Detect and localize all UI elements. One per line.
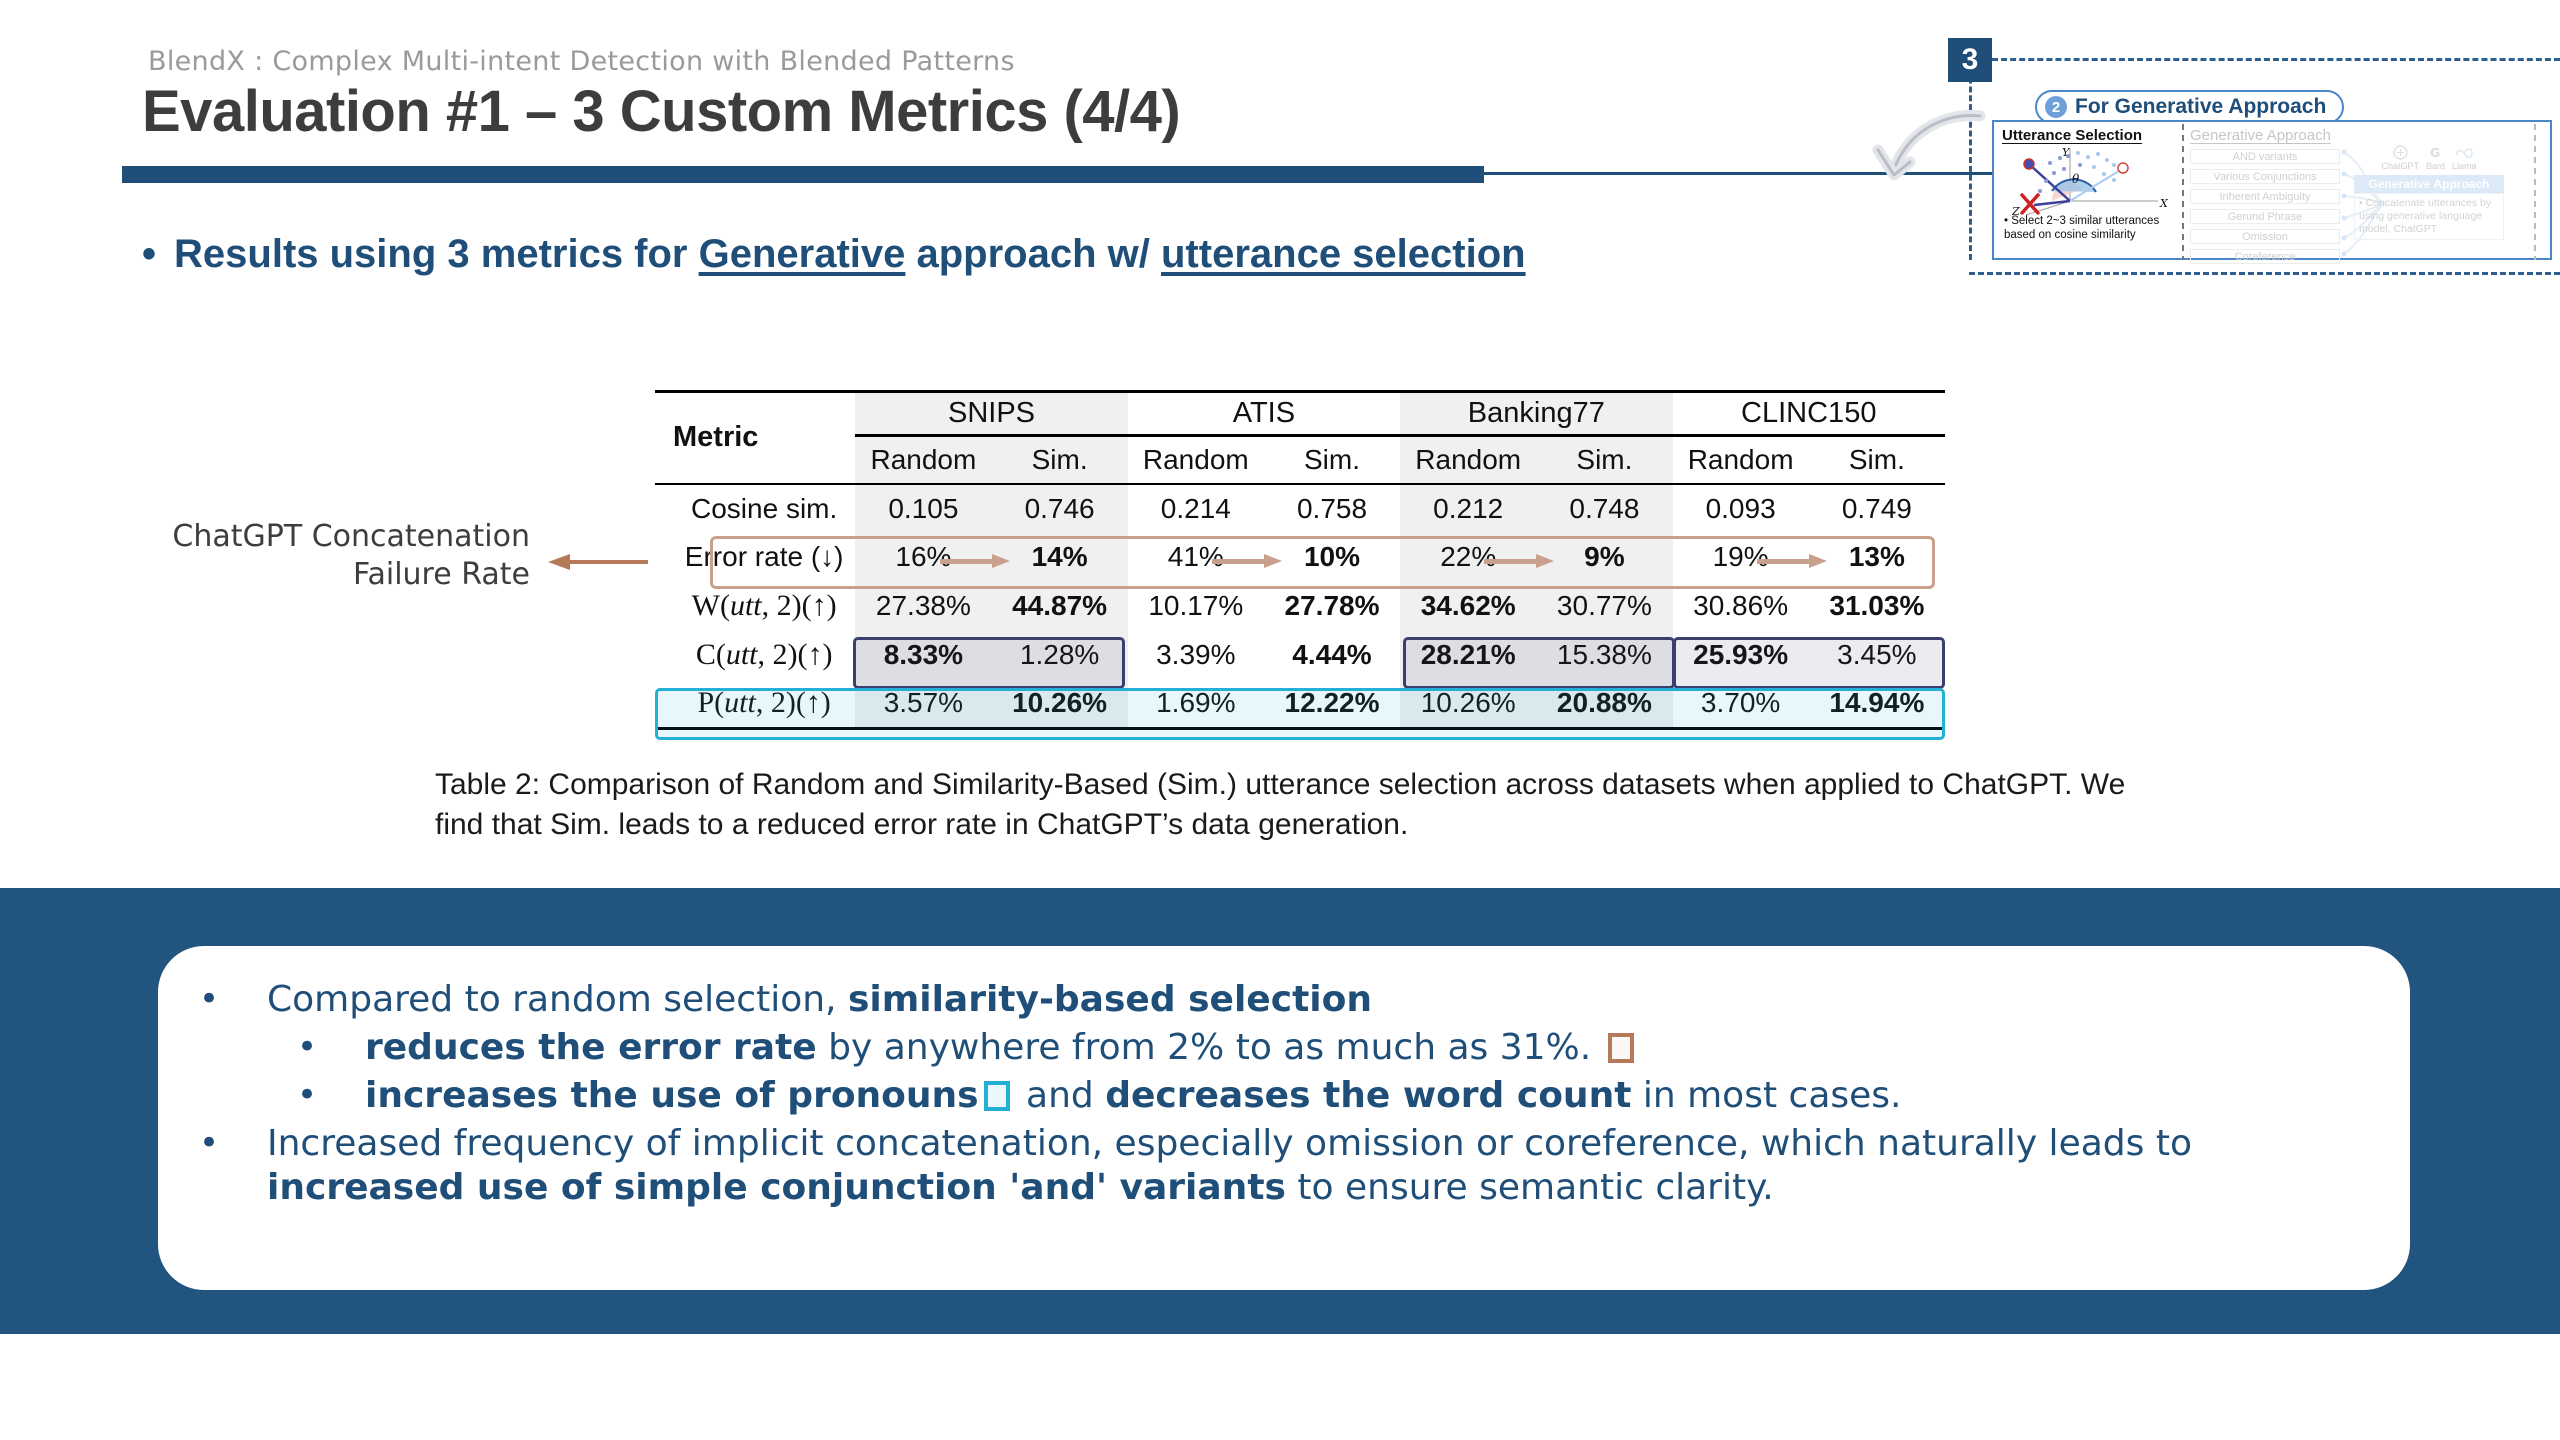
table-cell-value: 3.57%	[855, 680, 991, 729]
main-bullet-part1: Results using 3 metrics for	[174, 232, 699, 276]
table-cell-value: 1.69%	[1128, 680, 1264, 729]
thumbnail-left-title: Utterance Selection	[2002, 127, 2177, 144]
table-row: W(utt, 2)(↑)27.38%44.87%10.17%27.78%34.6…	[655, 582, 1945, 631]
table-body: Cosine sim.0.1050.7460.2140.7580.2120.74…	[655, 484, 1945, 729]
table-cell-value: 0.105	[855, 484, 991, 533]
table-cell-value: 0.212	[1400, 484, 1536, 533]
table-cell-value: 9%	[1536, 533, 1672, 582]
thumbnail-model-logos: ChatGPT G Bard Llama	[2354, 144, 2504, 171]
table-cell-value: 15.38%	[1536, 631, 1672, 680]
arrow-right-icon	[1757, 555, 1831, 567]
annotation-line-2: Failure Rate	[150, 556, 530, 594]
thumbnail-diagram: Utterance Selection Y X Z θ	[1992, 120, 2552, 260]
table-group-header-row: Metric SNIPS ATIS Banking77 CLINC150	[655, 392, 1945, 436]
table-cell-metric: W(utt, 2)(↑)	[655, 582, 855, 631]
summary-card-content: •Compared to random selection, similarit…	[185, 978, 2395, 1214]
thumbnail-chip-1: Various Conjunctions	[2190, 169, 2340, 184]
table-subheader-random-3: Random	[1673, 436, 1809, 484]
color-swatch-tan	[1608, 1033, 1634, 1063]
thumbnail-right-title: Generative Approach	[2354, 175, 2504, 193]
table-cell-metric: C(utt, 2)(↑)	[655, 631, 855, 680]
table-subheader-sim-1: Sim.	[1264, 436, 1400, 484]
thumbnail-dashed-bottom	[1969, 272, 2560, 275]
table-cell-metric: Error rate (↓)	[655, 533, 855, 582]
bullet-glyph: •	[142, 232, 156, 276]
table-cell-value: 10.26%	[1400, 680, 1536, 729]
thumbnail-dashed-top	[1992, 58, 2560, 61]
thumbnail-left-note: • Select 2~3 similar utterances based on…	[2004, 215, 2177, 242]
table-cell-metric: Cosine sim.	[655, 484, 855, 533]
thumbnail-chip-4: Omission	[2190, 229, 2340, 244]
table-header-dataset-3: CLINC150	[1673, 392, 1945, 436]
title-underline-bar	[122, 166, 1484, 183]
results-table: Metric SNIPS ATIS Banking77 CLINC150 Ran…	[655, 390, 1945, 730]
summary-bullet-item: •increases the use of pronouns and decre…	[185, 1074, 2395, 1118]
hyu-logo: 한양대학교 HANYANG UNIVERSITY	[100, 1338, 390, 1400]
thumbnail-right-body: • Concatenate utterances by using genera…	[2354, 193, 2504, 240]
bullet-glyph: •	[297, 1027, 317, 1068]
table-cell-value: 0.093	[1673, 484, 1809, 533]
chatgpt-logo-label: ChatGPT	[2381, 161, 2419, 171]
summary-text-segment: increases the use of pronouns	[365, 1075, 979, 1116]
summary-text-segment: Compared to random selection,	[267, 979, 848, 1020]
table-caption: Table 2: Comparison of Random and Simila…	[435, 765, 2155, 845]
thumbnail-chip-5: Coreference	[2190, 249, 2340, 264]
main-bullet-part2: approach w/	[905, 232, 1161, 276]
table-cell-value: 10.26%	[992, 680, 1128, 729]
table-cell-value: 31.03%	[1809, 582, 1945, 631]
cosine-similarity-diagram-icon: Y X Z θ	[2008, 143, 2173, 217]
summary-text-segment: similarity-based selection	[848, 979, 1372, 1020]
svg-text:한양대학교: 한양대학교	[305, 1353, 384, 1373]
thumbnail-chip-3: Gerund Phrase	[2190, 209, 2340, 224]
thumbnail-pill-label: 2 For Generative Approach	[2035, 90, 2344, 124]
section-badge: 3	[1948, 38, 1992, 82]
annotation-line-1: ChatGPT Concatenation	[150, 518, 530, 556]
summary-bullet-item: •Compared to random selection, similarit…	[185, 978, 2395, 1022]
table-cell-value: 3.45%	[1809, 631, 1945, 680]
table-cell-value: 30.77%	[1536, 582, 1672, 631]
bard-logo-label: Bard	[2426, 161, 2445, 171]
pill-number-badge: 2	[2045, 96, 2067, 118]
bullet-glyph: •	[199, 1123, 219, 1164]
summary-text-segment: in most cases.	[1631, 1075, 1901, 1116]
table-cell-value: 8.33%	[855, 631, 991, 680]
table-cell-value: 0.758	[1264, 484, 1400, 533]
bullet-glyph: •	[199, 979, 219, 1020]
table-header-metric: Metric	[655, 392, 855, 484]
bullet-glyph: •	[297, 1075, 317, 1116]
footer-line-1: Natural Language Processing Lab.,	[1100, 1341, 1480, 1406]
svg-text:G: G	[2430, 145, 2440, 160]
summary-text-segment: to ensure semantic clarity.	[1286, 1167, 1774, 1208]
table-cell-value: 10%	[1264, 533, 1400, 582]
summary-text-segment: and	[1015, 1075, 1106, 1116]
table-row: P(utt, 2)(↑)3.57%10.26%1.69%12.22%10.26%…	[655, 680, 1945, 729]
arrow-right-icon	[1484, 555, 1558, 567]
chatgpt-logo-icon: ChatGPT	[2381, 144, 2419, 171]
table-cell-value: 3.70%	[1673, 680, 1809, 729]
main-bullet-underline2: utterance selection	[1161, 232, 1526, 276]
main-bullet-line: •Results using 3 metrics for Generative …	[142, 232, 1526, 277]
table-cell-value: 30.86%	[1673, 582, 1809, 631]
summary-text-segment: reduces the error rate	[365, 1027, 817, 1068]
table-cell-value: 12.22%	[1264, 680, 1400, 729]
table-cell-value: 10.17%	[1128, 582, 1264, 631]
table-cell-value: 1.28%	[992, 631, 1128, 680]
thumbnail-chip-0: AND variants	[2190, 149, 2340, 164]
table-header-dataset-1: ATIS	[1128, 392, 1400, 436]
table-cell-value: 0.214	[1128, 484, 1264, 533]
page-number: 43	[2418, 1355, 2446, 1384]
main-bullet-underline1: Generative	[699, 232, 906, 276]
table-cell-value: 44.87%	[992, 582, 1128, 631]
table-cell-value: 0.746	[992, 484, 1128, 533]
results-table-container: Metric SNIPS ATIS Banking77 CLINC150 Ran…	[655, 390, 1945, 730]
table-cell-value: 3.39%	[1128, 631, 1264, 680]
table-cell-value: 25.93%	[1673, 631, 1809, 680]
table-cell-value: 14%	[992, 533, 1128, 582]
llama-logo-icon: Llama	[2452, 144, 2477, 171]
arrow-right-icon	[940, 555, 1014, 567]
table-cell-value: 4.44%	[1264, 631, 1400, 680]
table-subheader-sim-0: Sim.	[992, 436, 1128, 484]
summary-bullet-item: •reduces the error rate by anywhere from…	[185, 1026, 2395, 1070]
svg-text:X: X	[2159, 197, 2169, 210]
summary-text-segment: increased use of simple conjunction 'and…	[267, 1167, 1286, 1208]
llama-logo-label: Llama	[2452, 161, 2477, 171]
summary-text-segment: decreases the word count	[1105, 1075, 1631, 1116]
table-row: Error rate (↓)16%14%41%10%22%9%19%13%	[655, 533, 1945, 582]
table-header-dataset-0: SNIPS	[855, 392, 1127, 436]
bard-logo-icon: G Bard	[2426, 144, 2445, 171]
table-cell-metric: P(utt, 2)(↑)	[655, 680, 855, 729]
annotation-arrow-icon	[548, 552, 648, 572]
thumbnail-mid-title: Generative Approach	[2190, 127, 2340, 144]
table-cell-value: 0.749	[1809, 484, 1945, 533]
table-subheader-random-0: Random	[855, 436, 991, 484]
summary-text-segment: by anywhere from 2% to as much as 31%.	[817, 1027, 1603, 1068]
thumbnail-generative-approach-panel: Generative Approach AND variants Various…	[2190, 127, 2340, 264]
summary-bullet-item: •Increased frequency of implicit concate…	[185, 1122, 2395, 1210]
table-subheader-sim-2: Sim.	[1536, 436, 1672, 484]
table-header-dataset-2: Banking77	[1400, 392, 1672, 436]
table-cell-value: 28.21%	[1400, 631, 1536, 680]
thumbnail-right-panel: ChatGPT G Bard Llama Generative Approach…	[2354, 144, 2504, 240]
table-row: C(utt, 2)(↑)8.33%1.28%3.39%4.44%28.21%15…	[655, 631, 1945, 680]
paper-subtitle-kicker: BlendX : Complex Multi-intent Detection …	[148, 46, 1015, 77]
table-row: Cosine sim.0.1050.7460.2140.7580.2120.74…	[655, 484, 1945, 533]
thumbnail-utterance-selection-panel: Utterance Selection Y X Z θ	[2002, 127, 2177, 257]
table-subheader-random-2: Random	[1400, 436, 1536, 484]
curved-pointer-arrow-icon	[1862, 78, 2012, 188]
thumbnail-divider-2	[2534, 124, 2536, 260]
table-cell-value: 14.94%	[1809, 680, 1945, 729]
thumbnail-divider-1	[2182, 124, 2184, 260]
pill-label-text: For Generative Approach	[2075, 95, 2326, 119]
table-subheader-sim-3: Sim.	[1809, 436, 1945, 484]
table-cell-value: 34.62%	[1400, 582, 1536, 631]
table-cell-value: 0.748	[1536, 484, 1672, 533]
thumbnail-chip-2: Inherent Ambiguity	[2190, 189, 2340, 204]
arrow-right-icon	[1212, 555, 1286, 567]
page-title: Evaluation #1 – 3 Custom Metrics (4/4)	[142, 78, 1180, 145]
footer-line-2: Hanyang University.	[1100, 1406, 1480, 1439]
summary-text-segment: Increased frequency of implicit concaten…	[267, 1123, 2192, 1164]
table-subheader-random-1: Random	[1128, 436, 1264, 484]
svg-text:θ: θ	[2072, 172, 2080, 186]
svg-text:HANYANG UNIVERSITY: HANYANG UNIVERSITY	[305, 1378, 390, 1388]
table-cell-value: 27.38%	[855, 582, 991, 631]
chatgpt-failure-rate-annotation: ChatGPT Concatenation Failure Rate	[150, 518, 530, 595]
table-cell-value: 13%	[1809, 533, 1945, 582]
color-swatch-cyan	[984, 1081, 1010, 1111]
table-cell-value: 27.78%	[1264, 582, 1400, 631]
footer-lab-name: Natural Language Processing Lab., Hanyan…	[1100, 1341, 1480, 1439]
table-cell-value: 20.88%	[1536, 680, 1672, 729]
